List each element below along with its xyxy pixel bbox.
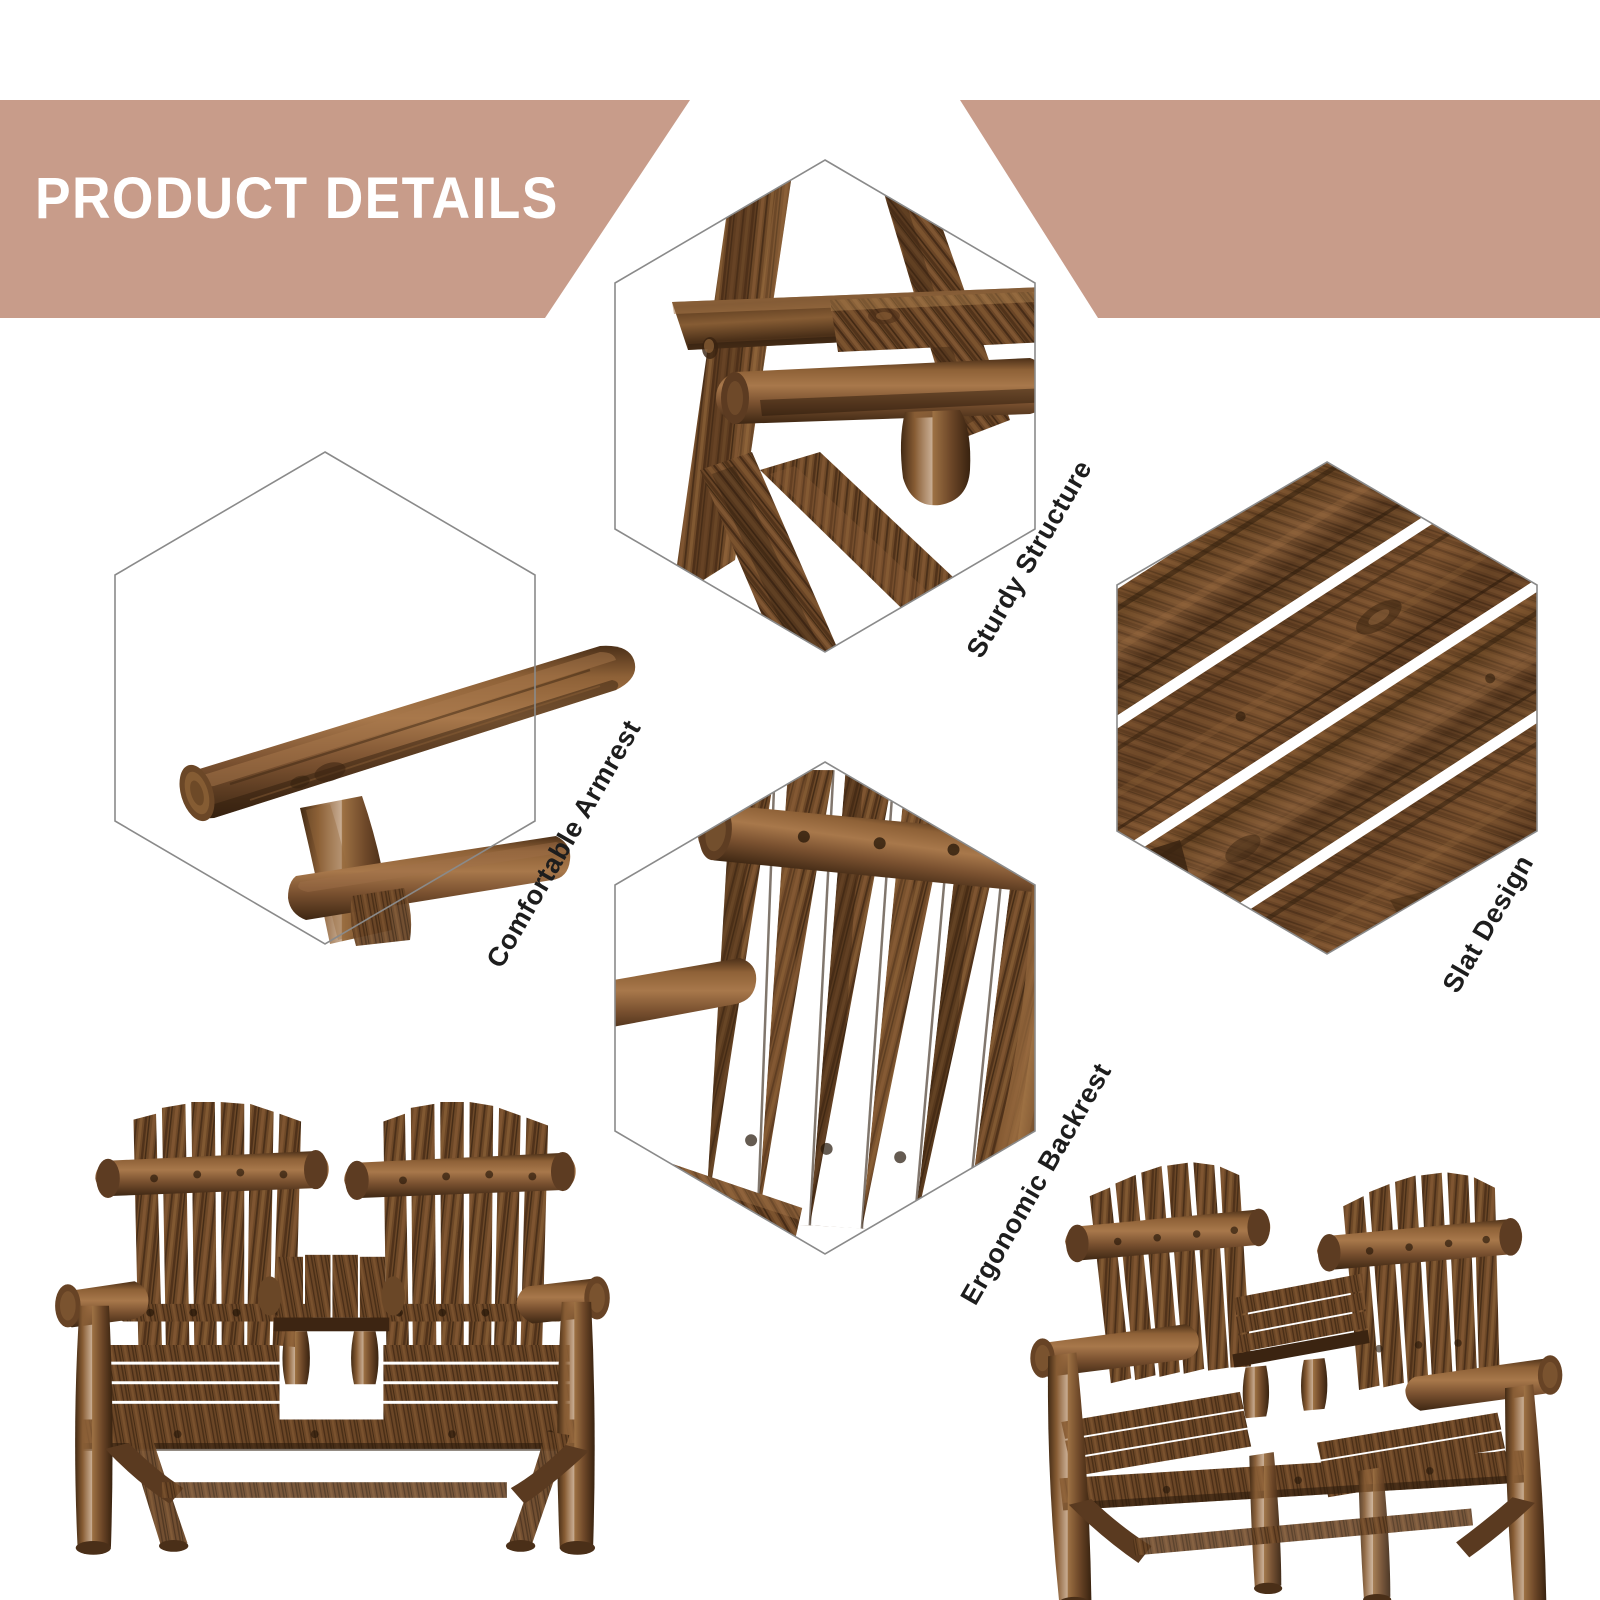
hex-comfortable-armrest-image [173, 646, 635, 946]
scene-graphics [0, 0, 1600, 1600]
product-front-view [55, 1102, 610, 1555]
hex-sturdy-structure-image [600, 120, 1090, 716]
page-title: PRODUCT DETAILS [35, 170, 559, 228]
product-details-page: PRODUCT DETAILS Sturdy Structure Comfort… [0, 0, 1600, 1600]
product-angle-view [1030, 1160, 1562, 1600]
